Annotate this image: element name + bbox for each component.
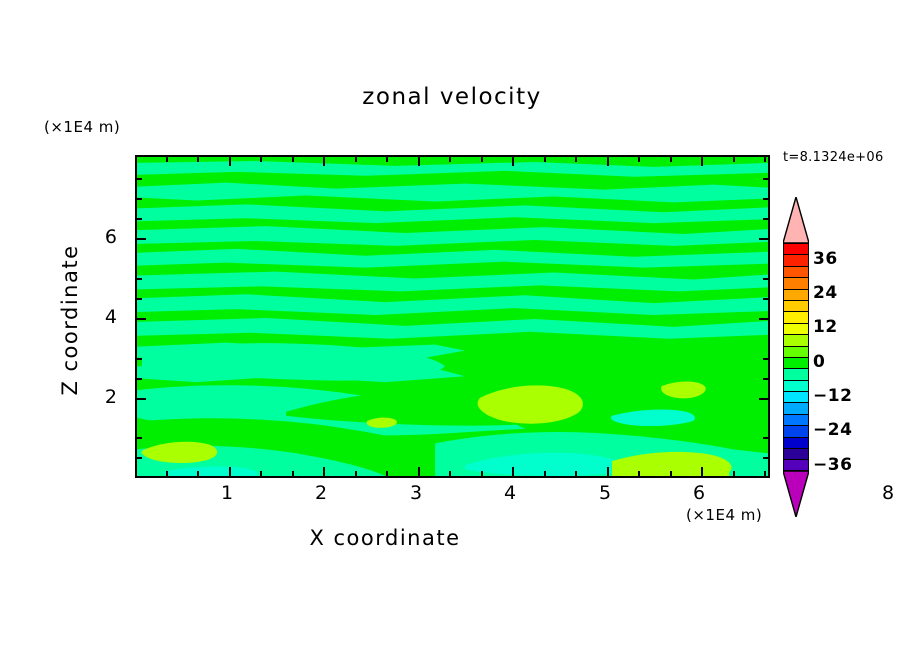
x-tick-label: 2 — [301, 482, 341, 504]
colorbar-band — [783, 254, 809, 265]
x-major-tick — [512, 467, 514, 476]
x-major-tick-top — [323, 157, 325, 166]
x-major-tick — [607, 467, 609, 476]
x-minor-tick-top — [544, 157, 546, 162]
y-tick-label: 6 — [77, 226, 117, 248]
x-minor-tick — [166, 471, 168, 476]
x-major-tick-top — [512, 157, 514, 166]
colorbar-band — [783, 289, 809, 300]
colorbar-band — [783, 380, 809, 391]
x-major-tick-top — [418, 157, 420, 166]
x-tick-label: 1 — [207, 482, 247, 504]
x-major-tick — [229, 467, 231, 476]
colorbar-band — [783, 459, 809, 470]
y-minor-tick-right — [763, 298, 768, 300]
y-minor-tick-right — [763, 278, 768, 280]
y-major-tick-right — [759, 238, 768, 240]
y-minor-tick-right — [763, 218, 768, 220]
y-tick-label: 4 — [77, 306, 117, 328]
x-minor-tick — [544, 471, 546, 476]
x-minor-tick — [575, 471, 577, 476]
x-minor-tick-top — [355, 157, 357, 162]
y-major-tick — [137, 398, 146, 400]
colorbar-label: 12 — [813, 317, 838, 337]
y-axis-tick-labels: 2 4 6 — [75, 0, 125, 654]
x-minor-tick-top — [260, 157, 262, 162]
y-minor-tick — [137, 298, 142, 300]
x-tick-label: 4 — [490, 482, 530, 504]
colorbar-label: −24 — [813, 420, 852, 440]
x-minor-tick-top — [733, 157, 735, 162]
x-minor-tick — [764, 471, 766, 476]
colorbar-band — [783, 448, 809, 459]
colorbar-band — [783, 346, 809, 357]
y-minor-tick-right — [763, 198, 768, 200]
colorbar-label: 24 — [813, 283, 838, 303]
x-major-tick-top — [607, 157, 609, 166]
colorbar: 36 24 12 0 −12 −24 −36 — [783, 197, 809, 517]
x-minor-tick — [197, 471, 199, 476]
x-minor-tick-top — [575, 157, 577, 162]
x-minor-tick — [292, 471, 294, 476]
x-minor-tick — [386, 471, 388, 476]
y-minor-tick-right — [763, 378, 768, 380]
x-minor-tick-top — [481, 157, 483, 162]
x-minor-tick — [670, 471, 672, 476]
y-minor-tick — [137, 278, 142, 280]
colorbar-band — [783, 334, 809, 345]
colorbar-band — [783, 368, 809, 379]
colorbar-over-arrow — [783, 197, 809, 243]
colorbar-label: 0 — [813, 352, 825, 372]
y-minor-tick — [137, 457, 142, 459]
x-major-tick-top — [701, 157, 703, 166]
colorbar-band — [783, 414, 809, 425]
y-major-tick-right — [759, 398, 768, 400]
colorbar-band — [783, 243, 809, 254]
x-major-tick — [323, 467, 325, 476]
y-minor-tick — [137, 198, 142, 200]
x-tick-label: 6 — [679, 482, 719, 504]
x-major-tick — [701, 467, 703, 476]
colorbar-bands — [783, 243, 809, 471]
x-minor-tick — [449, 471, 451, 476]
y-major-tick — [137, 318, 146, 320]
colorbar-band — [783, 300, 809, 311]
y-major-tick — [137, 238, 146, 240]
x-minor-tick-top — [670, 157, 672, 162]
x-tick-label: 3 — [396, 482, 436, 504]
colorbar-band — [783, 311, 809, 322]
page-title: zonal velocity — [0, 84, 904, 110]
x-minor-tick-top — [197, 157, 199, 162]
x-axis-unit-label: (×1E4 m) — [686, 506, 762, 524]
y-minor-tick — [137, 358, 142, 360]
x-minor-tick-top — [292, 157, 294, 162]
x-minor-tick-top — [638, 157, 640, 162]
colorbar-band — [783, 391, 809, 402]
colorbar-band — [783, 437, 809, 448]
x-minor-tick — [733, 471, 735, 476]
y-tick-label: 2 — [77, 386, 117, 408]
x-minor-tick-top — [386, 157, 388, 162]
y-minor-tick-right — [763, 178, 768, 180]
colorbar-band — [783, 425, 809, 436]
colorbar-band — [783, 357, 809, 368]
x-minor-tick-top — [764, 157, 766, 162]
x-minor-tick — [638, 471, 640, 476]
x-major-tick — [418, 467, 420, 476]
x-minor-tick — [481, 471, 483, 476]
colorbar-under-arrow — [783, 471, 809, 517]
colorbar-label: −12 — [813, 386, 852, 406]
timestamp-label: t=8.1324e+06 — [783, 150, 884, 165]
x-major-tick-top — [229, 157, 231, 166]
y-minor-tick — [137, 218, 142, 220]
colorbar-band — [783, 277, 809, 288]
contour-plot-area — [135, 155, 770, 478]
x-minor-tick-top — [166, 157, 168, 162]
x-tick-label: 5 — [585, 482, 625, 504]
colorbar-label: −36 — [813, 455, 852, 475]
y-minor-tick-right — [763, 457, 768, 459]
y-minor-tick-right — [763, 437, 768, 439]
colorbar-band — [783, 402, 809, 413]
x-minor-tick — [355, 471, 357, 476]
colorbar-label: 36 — [813, 249, 838, 269]
y-minor-tick — [137, 178, 142, 180]
y-major-tick-right — [759, 318, 768, 320]
y-minor-tick — [137, 378, 142, 380]
contour-field — [137, 157, 768, 476]
colorbar-band — [783, 266, 809, 277]
y-minor-tick-right — [763, 358, 768, 360]
x-minor-tick-top — [449, 157, 451, 162]
colorbar-band — [783, 323, 809, 334]
x-tick-label: 8 — [868, 482, 904, 504]
y-minor-tick — [137, 437, 142, 439]
x-minor-tick — [260, 471, 262, 476]
